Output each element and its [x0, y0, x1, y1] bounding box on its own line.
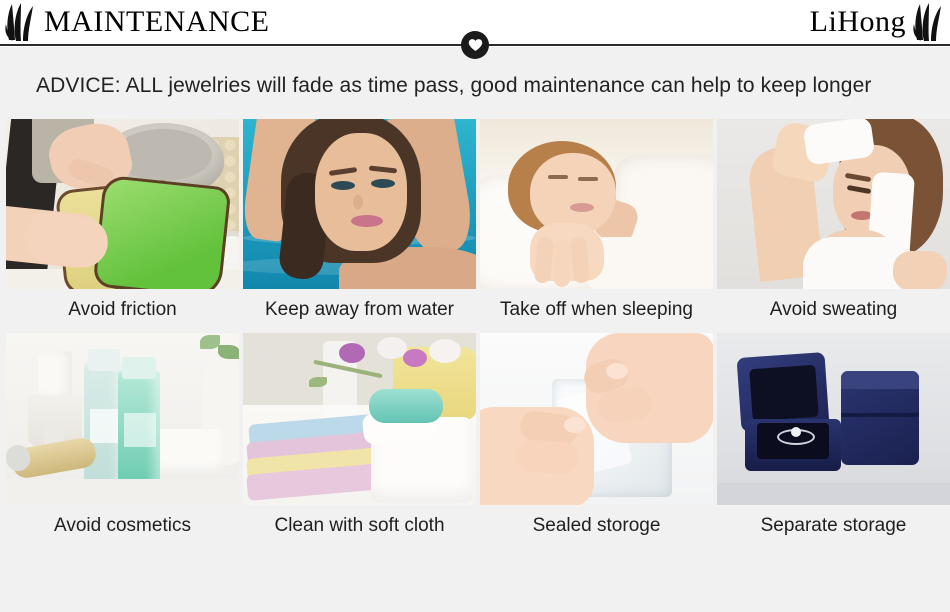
- pastel-towels-with-soap-and-orchids-image: [243, 333, 476, 505]
- care-tips-grid: Avoid friction Keep away from wat: [0, 119, 950, 547]
- header-title-left: MAINTENANCE: [44, 2, 269, 42]
- care-tip-cell: Avoid cosmetics: [6, 333, 239, 547]
- care-tip-cell: Avoid friction: [6, 119, 239, 331]
- navy-velvet-jewelry-boxes-with-ring-image: [717, 333, 950, 505]
- care-tip-caption: Clean with soft cloth: [243, 505, 476, 547]
- woman-in-turquoise-swimming-pool-image: [243, 119, 476, 289]
- care-tip-caption: Avoid cosmetics: [6, 505, 239, 547]
- hands-sealing-clear-plastic-zip-bag-image: [480, 333, 713, 505]
- heart-in-circle-icon: [461, 31, 489, 59]
- header-title-right: LiHong: [810, 2, 906, 42]
- care-tip-caption: Avoid friction: [6, 289, 239, 331]
- care-tip-cell: Take off when sleeping: [480, 119, 713, 331]
- brand-right: LiHong: [810, 2, 946, 42]
- leaf-flame-ornament-icon: [4, 2, 38, 42]
- care-tip-cell: Sealed storoge: [480, 333, 713, 547]
- care-tip-cell: Separate storage: [717, 333, 950, 547]
- woman-wiping-sweat-with-white-towel-image: [717, 119, 950, 289]
- care-tips-row: Avoid cosmetics Clean with soft cloth: [6, 333, 944, 547]
- care-tip-caption: Avoid sweating: [717, 289, 950, 331]
- care-tip-cell: Avoid sweating: [717, 119, 950, 331]
- care-tip-caption: Separate storage: [717, 505, 950, 547]
- care-tip-caption: Take off when sleeping: [480, 289, 713, 331]
- hands-with-green-cleaning-cloth-and-bowl-image: [6, 119, 239, 289]
- cosmetic-toner-bottles-on-counter-image: [6, 333, 239, 505]
- care-tip-cell: Keep away from water: [243, 119, 476, 331]
- leaf-flame-ornament-icon: [912, 2, 946, 42]
- care-tip-cell: Clean with soft cloth: [243, 333, 476, 547]
- woman-sleeping-on-white-pillow-image: [480, 119, 713, 289]
- care-tip-caption: Keep away from water: [243, 289, 476, 331]
- maintenance-infographic: MAINTENANCE LiHong ADVICE: ALL jewelries…: [0, 0, 950, 612]
- care-tips-row: Avoid friction Keep away from wat: [6, 119, 944, 331]
- brand-left: MAINTENANCE: [4, 2, 269, 42]
- care-tip-caption: Sealed storoge: [480, 505, 713, 547]
